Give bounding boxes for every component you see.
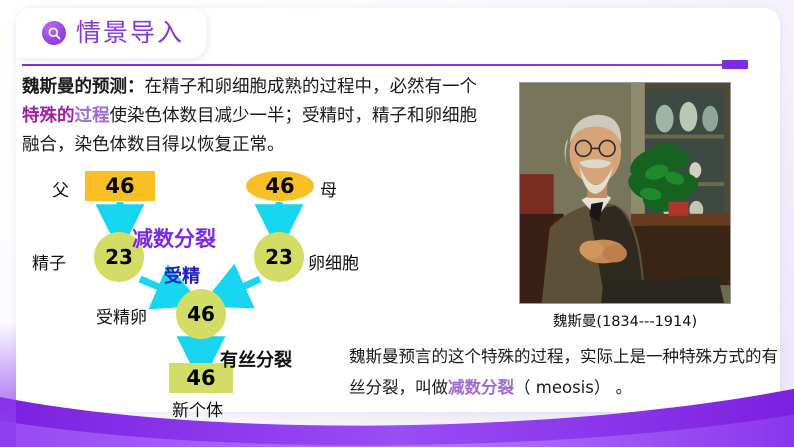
label-father: 父 — [52, 176, 69, 201]
term-fertilization: 受精 — [164, 262, 200, 288]
prediction-seg1: 在精子和卵细胞成熟的过程中，必然有一个 — [145, 77, 478, 97]
term-mitosis: 有丝分裂 — [220, 346, 292, 372]
node-egg-23: 23 — [254, 232, 304, 282]
section-header-chip[interactable]: 情景导入 — [16, 8, 206, 58]
label-sperm: 精子 — [32, 249, 66, 274]
divider-line — [22, 64, 748, 66]
node-father-46: 46 — [85, 171, 155, 201]
slide-canvas: 情景导入 魏斯曼的预测：在精子和卵细胞成熟的过程中，必然有一个特殊的过程使染色体… — [0, 0, 794, 447]
prediction-lead: 魏斯曼的预测 — [22, 77, 127, 97]
label-new-individual: 新个体 — [172, 396, 223, 421]
prediction-colon: ： — [127, 77, 145, 97]
left-edge-accent — [0, 0, 16, 447]
weismann-portrait — [519, 82, 731, 304]
definition-seg2: （ meosis） 。 — [514, 378, 632, 397]
divider-end-cap — [722, 60, 748, 69]
highlight-meiosis: 减数分裂 — [448, 378, 514, 397]
node-mother-46: 46 — [246, 171, 314, 201]
search-icon — [42, 21, 66, 45]
portrait-caption: 魏斯曼(1834---1914) — [519, 310, 731, 331]
label-zygote: 受精卵 — [96, 303, 147, 328]
prediction-paragraph: 魏斯曼的预测：在精子和卵细胞成熟的过程中，必然有一个特殊的过程使染色体数目减少一… — [22, 73, 492, 160]
meiosis-flow-diagram: 父 46 46 母 精子 23 23 卵细胞 受精卵 46 46 新个体 减数分… — [20, 168, 370, 418]
highlight-process: 过程 — [75, 106, 110, 126]
label-egg-cell: 卵细胞 — [308, 249, 359, 274]
term-meiosis: 减数分裂 — [132, 223, 216, 253]
label-mother: 母 — [320, 176, 337, 201]
page-title: 情景导入 — [76, 21, 184, 46]
header-divider — [22, 63, 760, 66]
highlight-special: 特殊的 — [22, 106, 75, 126]
meiosis-definition-paragraph: 魏斯曼预言的这个特殊的过程，实际上是一种特殊方式的有丝分裂，叫做减数分裂（ me… — [349, 341, 781, 403]
portrait-block: 魏斯曼(1834---1914) — [519, 82, 731, 331]
node-zygote-46: 46 — [176, 289, 226, 339]
